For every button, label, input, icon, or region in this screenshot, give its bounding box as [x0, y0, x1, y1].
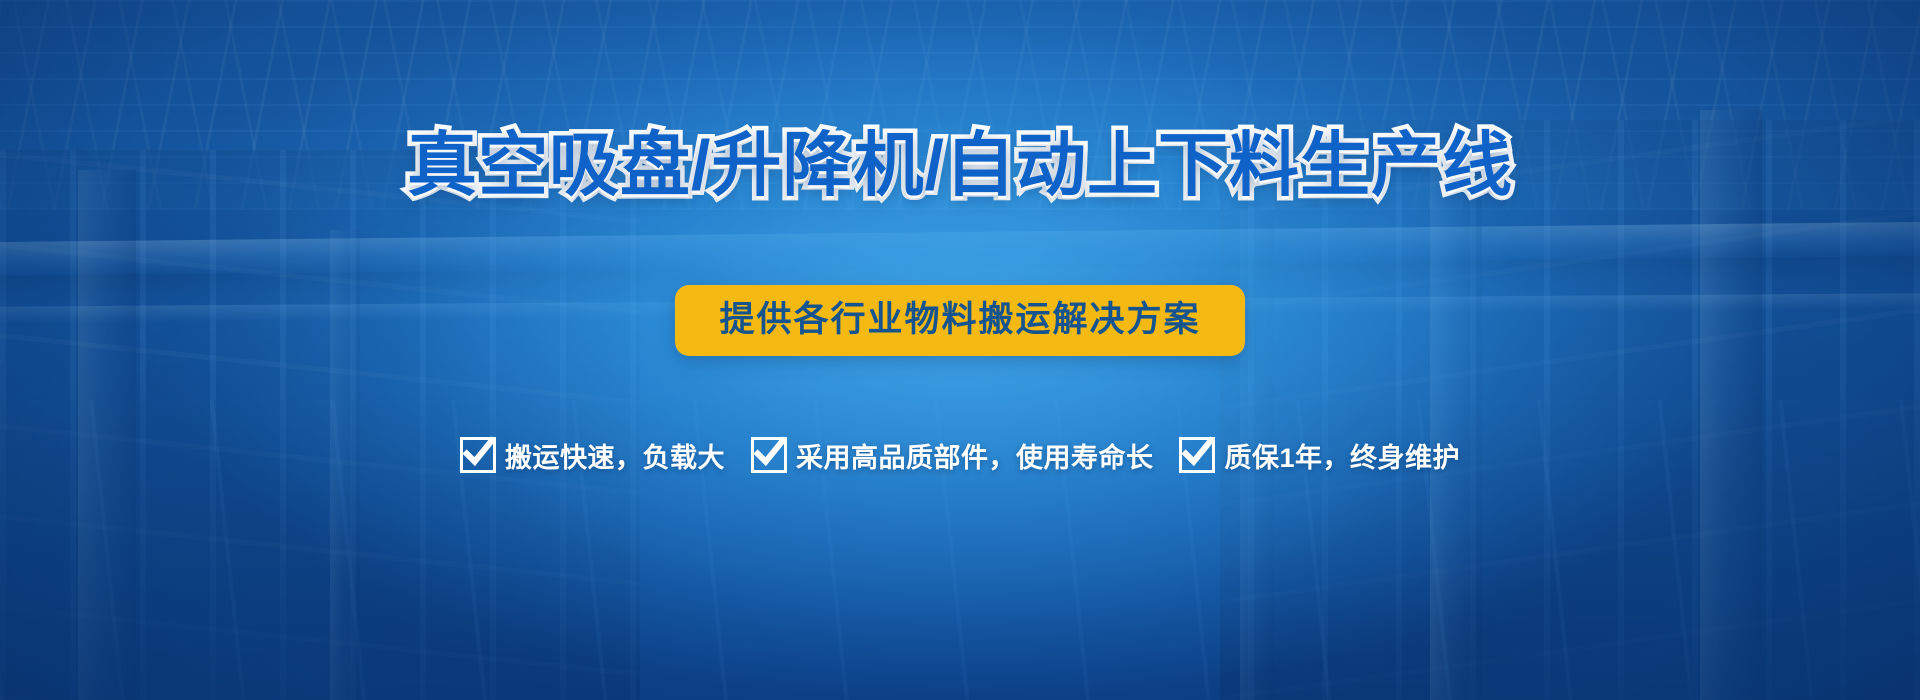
- banner-content: 真空吸盘/升降机/自动上下料生产线 提供各行业物料搬运解决方案 搬运快速，负载大…: [0, 0, 1920, 700]
- checkbox-checked-icon: [751, 437, 787, 473]
- feature-list: 搬运快速，负载大 采用高品质部件，使用寿命长 质保1年，终身维护: [460, 436, 1460, 475]
- feature-item: 质保1年，终身维护: [1179, 436, 1460, 475]
- banner-subtitle-pill: 提供各行业物料搬运解决方案: [675, 285, 1244, 356]
- feature-label: 搬运快速，负载大: [505, 436, 725, 475]
- feature-label: 质保1年，终身维护: [1224, 436, 1460, 475]
- checkbox-checked-icon: [460, 437, 496, 473]
- feature-label: 采用高品质部件，使用寿命长: [796, 436, 1154, 475]
- hero-banner: 真空吸盘/升降机/自动上下料生产线 提供各行业物料搬运解决方案 搬运快速，负载大…: [0, 0, 1920, 700]
- feature-item: 搬运快速，负载大: [460, 436, 725, 475]
- banner-headline: 真空吸盘/升降机/自动上下料生产线: [407, 130, 1513, 200]
- feature-item: 采用高品质部件，使用寿命长: [751, 436, 1154, 475]
- checkbox-checked-icon: [1179, 437, 1215, 473]
